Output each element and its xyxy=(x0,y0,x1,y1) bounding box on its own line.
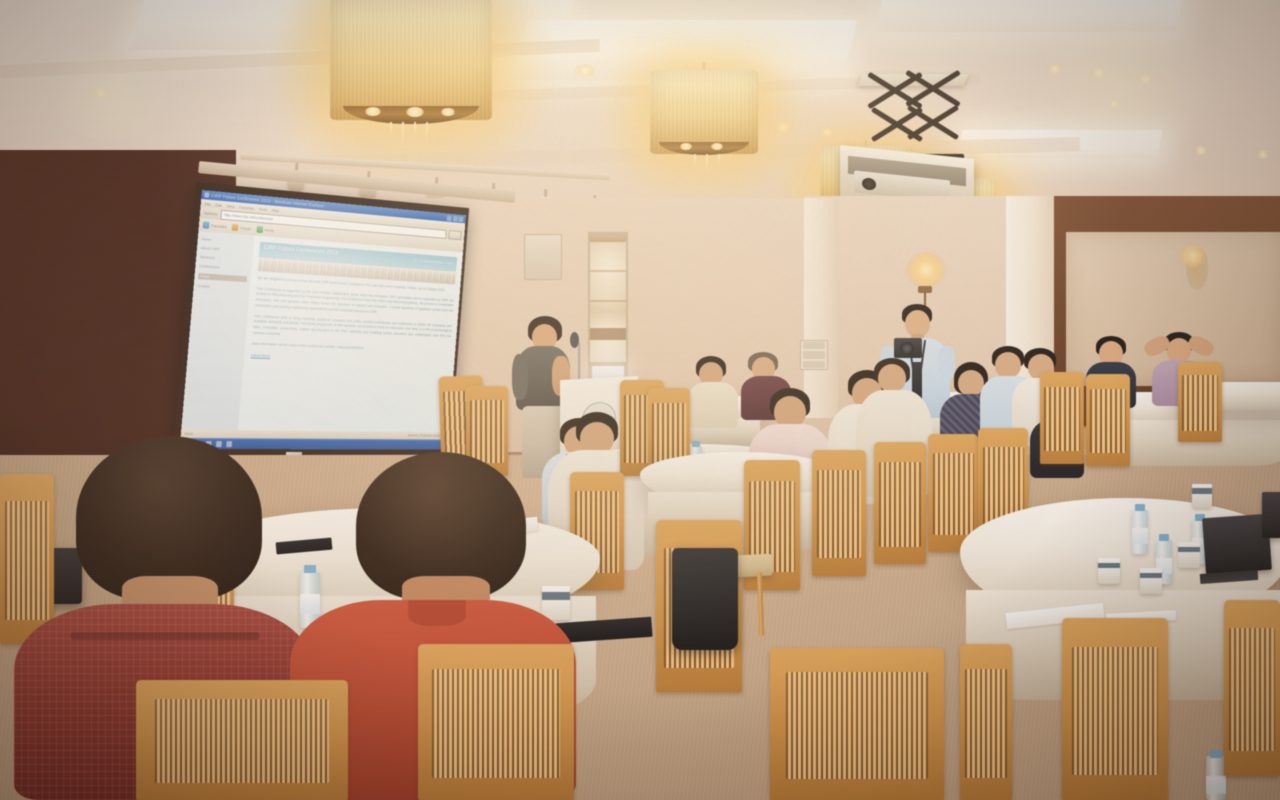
torso xyxy=(688,382,738,428)
chair-slats xyxy=(1229,628,1275,751)
projected-windows-desktop: CIRP Future Conference 2013 - Windows In… xyxy=(180,190,466,450)
wall-sconce-glow xyxy=(906,252,946,288)
shade-fold xyxy=(590,270,626,272)
latest-news-link[interactable]: Latest News xyxy=(251,353,449,365)
chair[interactable] xyxy=(1062,618,1168,800)
crystal-drop xyxy=(402,122,404,144)
chair[interactable] xyxy=(874,442,926,564)
pendant-lamp-left xyxy=(330,0,492,140)
chair-slats xyxy=(1044,387,1080,451)
ie-logo-icon xyxy=(204,192,209,197)
address-label: Address xyxy=(204,210,218,216)
slide-paragraph-3: This Conference aims to bring industrial… xyxy=(252,314,451,345)
bottle-label xyxy=(1132,528,1148,544)
chair-slats xyxy=(965,669,1008,778)
menu-item-favorites[interactable]: Favorites xyxy=(239,204,255,210)
track-light-arm xyxy=(543,189,546,197)
chair-slats xyxy=(1182,375,1218,431)
chair[interactable] xyxy=(136,680,348,800)
conference-room-photo: CIRP Future Conference 2013 - Windows In… xyxy=(0,0,1280,800)
crystal-drop xyxy=(414,122,416,136)
window-shade-valance xyxy=(590,234,626,242)
downlight-3 xyxy=(774,122,792,133)
nav-item-news[interactable]: News xyxy=(198,273,247,282)
go-button[interactable] xyxy=(448,230,461,240)
chair-slats xyxy=(1072,647,1159,774)
chair[interactable] xyxy=(960,644,1012,800)
chair-slats xyxy=(155,699,329,783)
projection-screen-surface: CIRP Future Conference 2013 - Windows In… xyxy=(180,190,466,450)
chair[interactable] xyxy=(1040,372,1084,464)
menu-item-help[interactable]: Help xyxy=(272,207,280,213)
shade-fold xyxy=(590,328,626,340)
close-icon[interactable] xyxy=(458,216,463,222)
light-switch-row[interactable] xyxy=(803,361,824,368)
cup-band xyxy=(1192,488,1212,493)
bottle-cap xyxy=(1159,534,1169,541)
chandelier-crystal xyxy=(680,143,692,150)
maximize-icon[interactable] xyxy=(453,215,458,221)
chair-slats xyxy=(933,453,974,536)
chair[interactable] xyxy=(812,450,866,576)
chair-slats xyxy=(786,672,929,778)
star-icon xyxy=(203,221,210,229)
chandelier-crystal xyxy=(441,108,455,116)
chair[interactable] xyxy=(1178,362,1222,442)
light-switch-row[interactable] xyxy=(803,351,824,358)
pendant-lamp-middle xyxy=(650,62,758,172)
head xyxy=(905,310,930,337)
person-attendee-table-1 xyxy=(686,356,740,426)
nav-item-conferences[interactable]: Conferences xyxy=(199,264,248,271)
chair-slats xyxy=(1090,389,1126,453)
water-bottle xyxy=(1206,756,1226,800)
menu-item-edit[interactable]: Edit xyxy=(215,202,222,208)
page-content: CIRP Future Conference 2013 14 - 15 Octo… xyxy=(238,235,463,432)
bottle-label xyxy=(1206,776,1226,794)
paper-cup xyxy=(1140,568,1162,594)
menu-item-view[interactable]: View xyxy=(226,203,234,209)
chair[interactable] xyxy=(1086,374,1130,466)
laptop-screen[interactable] xyxy=(1262,492,1280,538)
window-roman-shade xyxy=(590,242,626,362)
downlight-8 xyxy=(1108,100,1120,108)
page-body: Home About CIRP Members Conferences News… xyxy=(181,231,463,432)
downlight-9 xyxy=(1194,146,1208,155)
chandelier-crystal xyxy=(406,107,424,117)
crystal-drop xyxy=(694,154,696,168)
chandelier-crystal xyxy=(365,107,381,116)
menu-item-tools[interactable]: Tools xyxy=(259,206,268,212)
paper-cup xyxy=(1178,542,1200,568)
feed-icon xyxy=(232,224,239,231)
chair-slats xyxy=(879,462,922,547)
downlight-11 xyxy=(1256,150,1270,159)
downlight-5 xyxy=(1046,64,1063,74)
home-icon xyxy=(256,226,263,233)
shirt-yoke-seam xyxy=(70,632,260,640)
crystal-drop xyxy=(718,154,720,166)
paper-cup xyxy=(1098,558,1120,584)
downlight-2 xyxy=(574,64,596,77)
minimize-icon[interactable] xyxy=(447,215,452,221)
toolbar-favorites[interactable]: Favorites xyxy=(203,221,227,230)
chair[interactable] xyxy=(770,648,944,800)
water-bottle xyxy=(1132,510,1148,554)
wall-sconce-glow-right xyxy=(1180,244,1206,268)
crystal-drop xyxy=(426,122,428,141)
chandelier-crystal xyxy=(711,143,723,150)
bottle-cap xyxy=(692,441,700,447)
window-control-buttons[interactable] xyxy=(447,215,464,222)
cup-band xyxy=(1098,563,1120,569)
banner-subtitle: 14 - 15 October Nantes, France xyxy=(413,258,454,266)
crystal-drop xyxy=(706,154,708,172)
pendant-shade xyxy=(330,0,492,120)
bottle-cap xyxy=(1135,504,1145,511)
chair-slats xyxy=(817,470,861,558)
pendant-inner-ring xyxy=(343,106,479,124)
wall-speaker xyxy=(524,234,562,280)
nav-item-home[interactable]: Home xyxy=(201,237,250,245)
backpack xyxy=(672,548,738,650)
toolbar-favorites-label: Favorites xyxy=(211,223,227,229)
nav-item-about[interactable]: About CIRP xyxy=(201,246,250,254)
light-switch-plate[interactable] xyxy=(800,340,828,370)
ceiling-coffer-right xyxy=(875,0,1185,32)
chair[interactable] xyxy=(1224,600,1280,776)
toolbar-home-label: Home xyxy=(264,227,274,233)
camera-lens xyxy=(900,342,914,355)
light-switch-row[interactable] xyxy=(803,342,824,349)
menu-item-file[interactable]: File xyxy=(204,201,211,207)
crystal-drop xyxy=(390,122,392,138)
banner-title: CIRP Future Conference 2013 xyxy=(263,245,338,256)
polo-collar xyxy=(408,600,466,626)
chair[interactable] xyxy=(418,644,574,800)
paper-cup xyxy=(1192,484,1212,508)
head xyxy=(878,364,906,392)
toolbar-feeds[interactable]: Feeds xyxy=(232,224,251,232)
cup-band xyxy=(1178,547,1200,553)
nav-item-contact[interactable]: Contact xyxy=(197,284,246,291)
chair-slats xyxy=(432,669,560,778)
downlight-1 xyxy=(92,88,110,99)
shade-fold xyxy=(590,300,626,302)
toolbar-home[interactable]: Home xyxy=(256,226,274,234)
arm-left xyxy=(512,354,528,400)
downlight-6 xyxy=(1090,68,1107,78)
cup-band xyxy=(1140,573,1162,579)
bottle-cap xyxy=(1210,750,1222,758)
downlight-7 xyxy=(1138,74,1154,84)
toolbar-feeds-label: Feeds xyxy=(240,225,251,231)
nav-item-members[interactable]: Members xyxy=(200,255,249,262)
downlight-4 xyxy=(820,128,834,137)
